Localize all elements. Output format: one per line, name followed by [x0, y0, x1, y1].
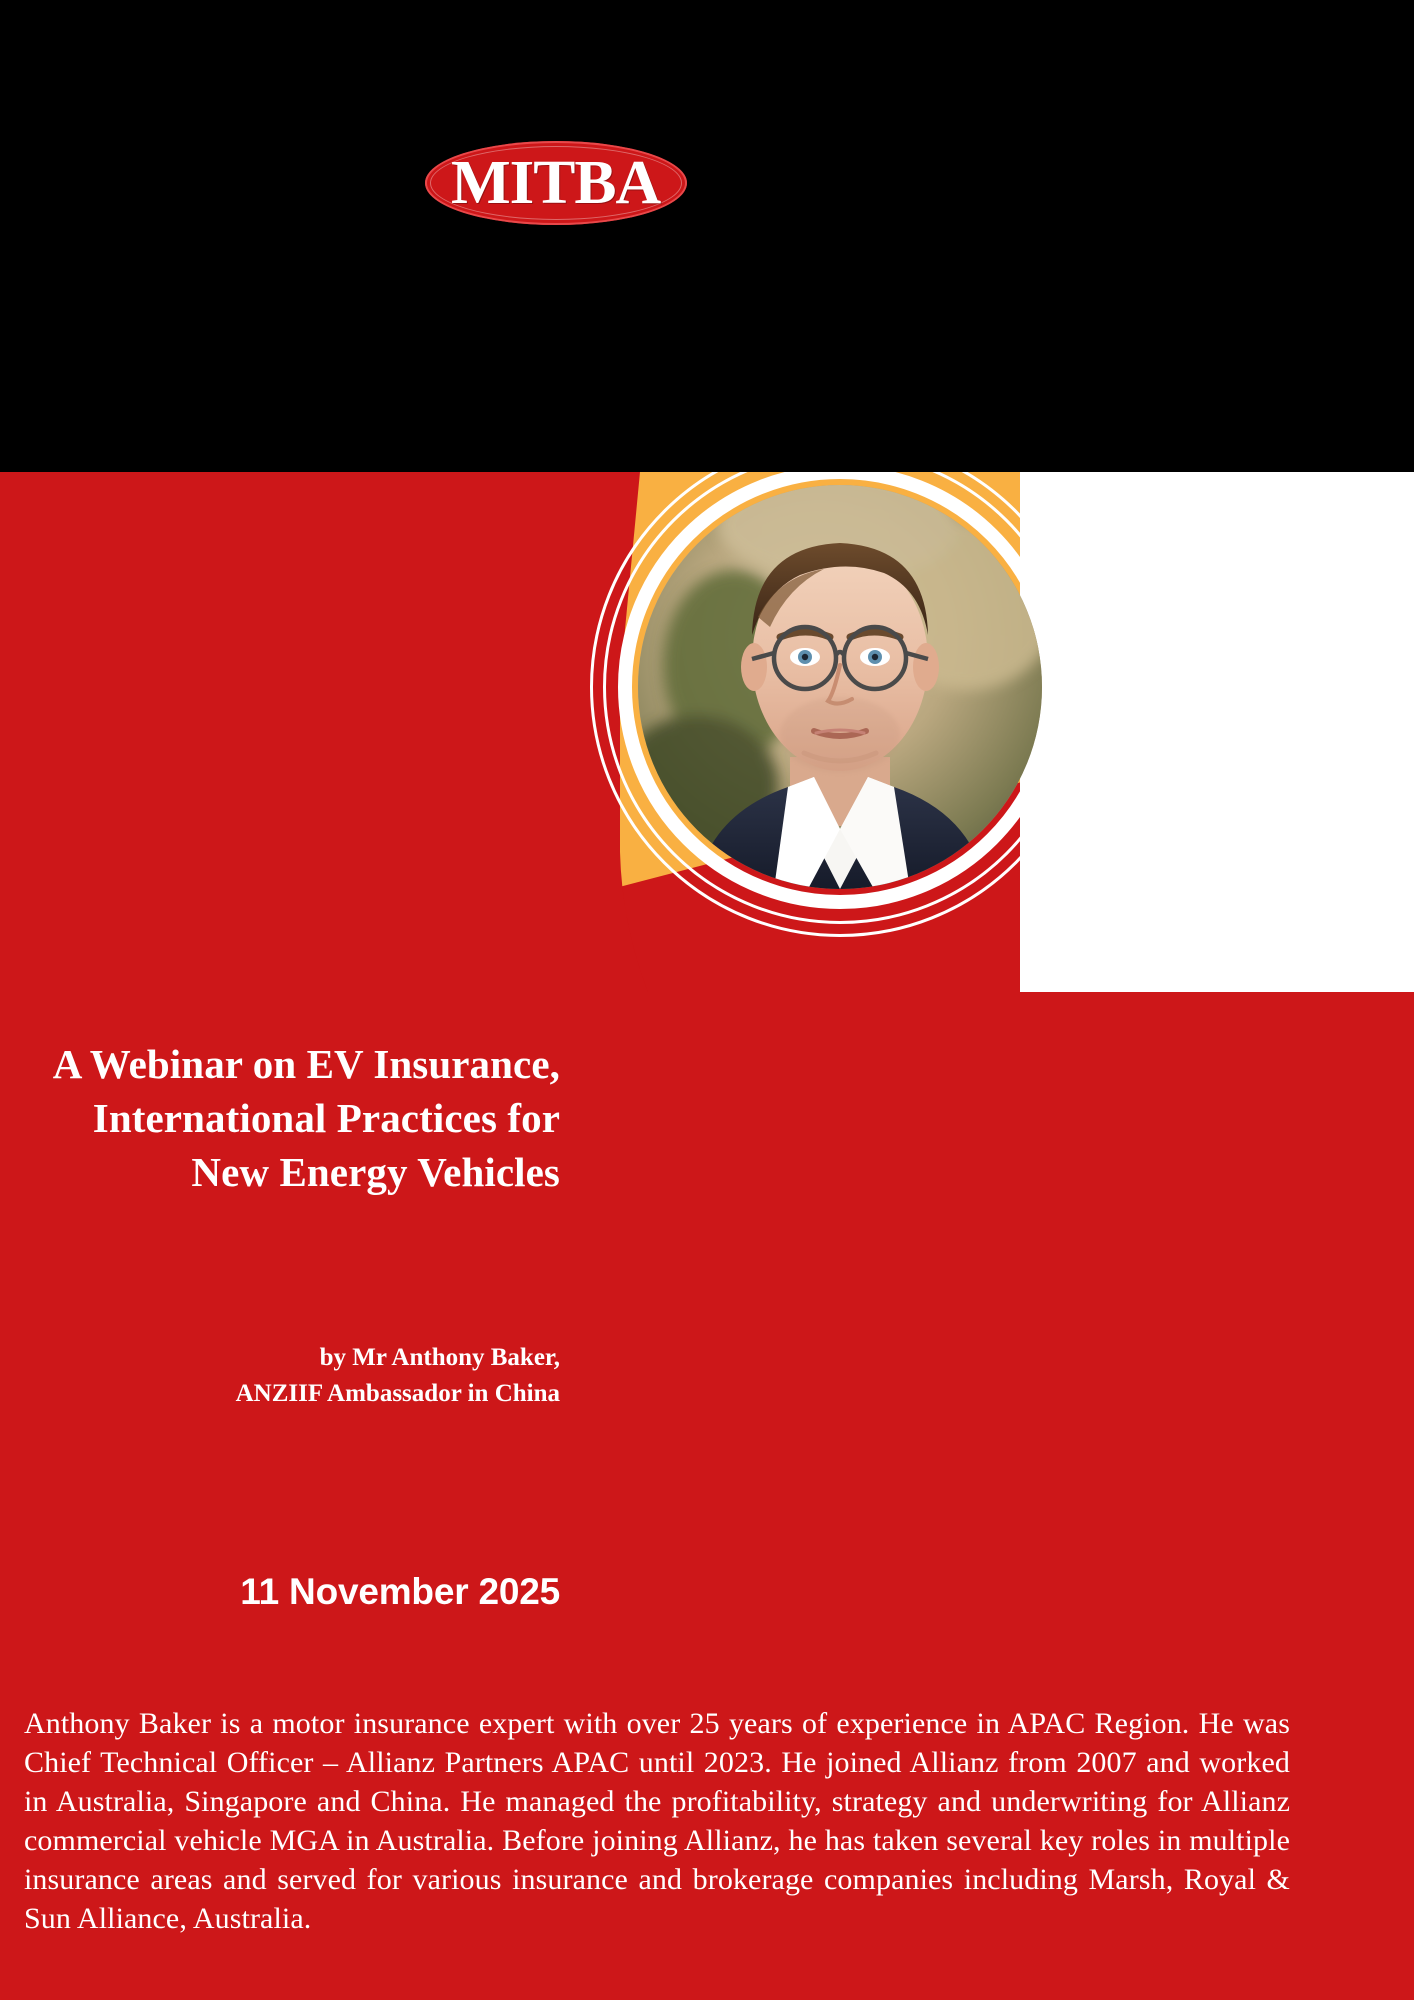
header-black-band	[0, 0, 1414, 472]
speaker-block: by Mr Anthony Baker, ANZIIF Ambassador i…	[40, 1340, 560, 1411]
title-line-1: A Webinar on EV Insurance,	[40, 1037, 560, 1091]
mitba-logo: MITBA	[425, 141, 687, 225]
title-line-2: International Practices for	[40, 1091, 560, 1145]
title-line-3: New Energy Vehicles	[40, 1145, 560, 1199]
speaker-name: by Mr Anthony Baker,	[40, 1340, 560, 1376]
title-block: A Webinar on EV Insurance, International…	[40, 1037, 560, 1199]
logo-wordmark: MITBA	[451, 152, 660, 214]
logo-oval-shape: MITBA	[425, 141, 687, 225]
speaker-portrait-photo	[638, 485, 1042, 889]
white-lower-right-block	[1060, 872, 1414, 1112]
portrait-circle-group	[590, 472, 1090, 937]
speaker-role: ANZIIF Ambassador in China	[40, 1376, 560, 1412]
red-main-panel: A Webinar on EV Insurance, International…	[0, 472, 1414, 2000]
page-title: A Webinar on EV Insurance, International…	[40, 1037, 560, 1199]
poster-root: MITBA	[0, 0, 1414, 2000]
portrait-illustration	[638, 485, 1042, 889]
bio-block: Anthony Baker is a motor insurance exper…	[24, 1704, 1290, 1938]
event-date: 11 November 2025	[40, 1570, 560, 1614]
speaker-bio-paragraph: Anthony Baker is a motor insurance exper…	[24, 1704, 1290, 1938]
date-block: 11 November 2025	[40, 1570, 560, 1614]
